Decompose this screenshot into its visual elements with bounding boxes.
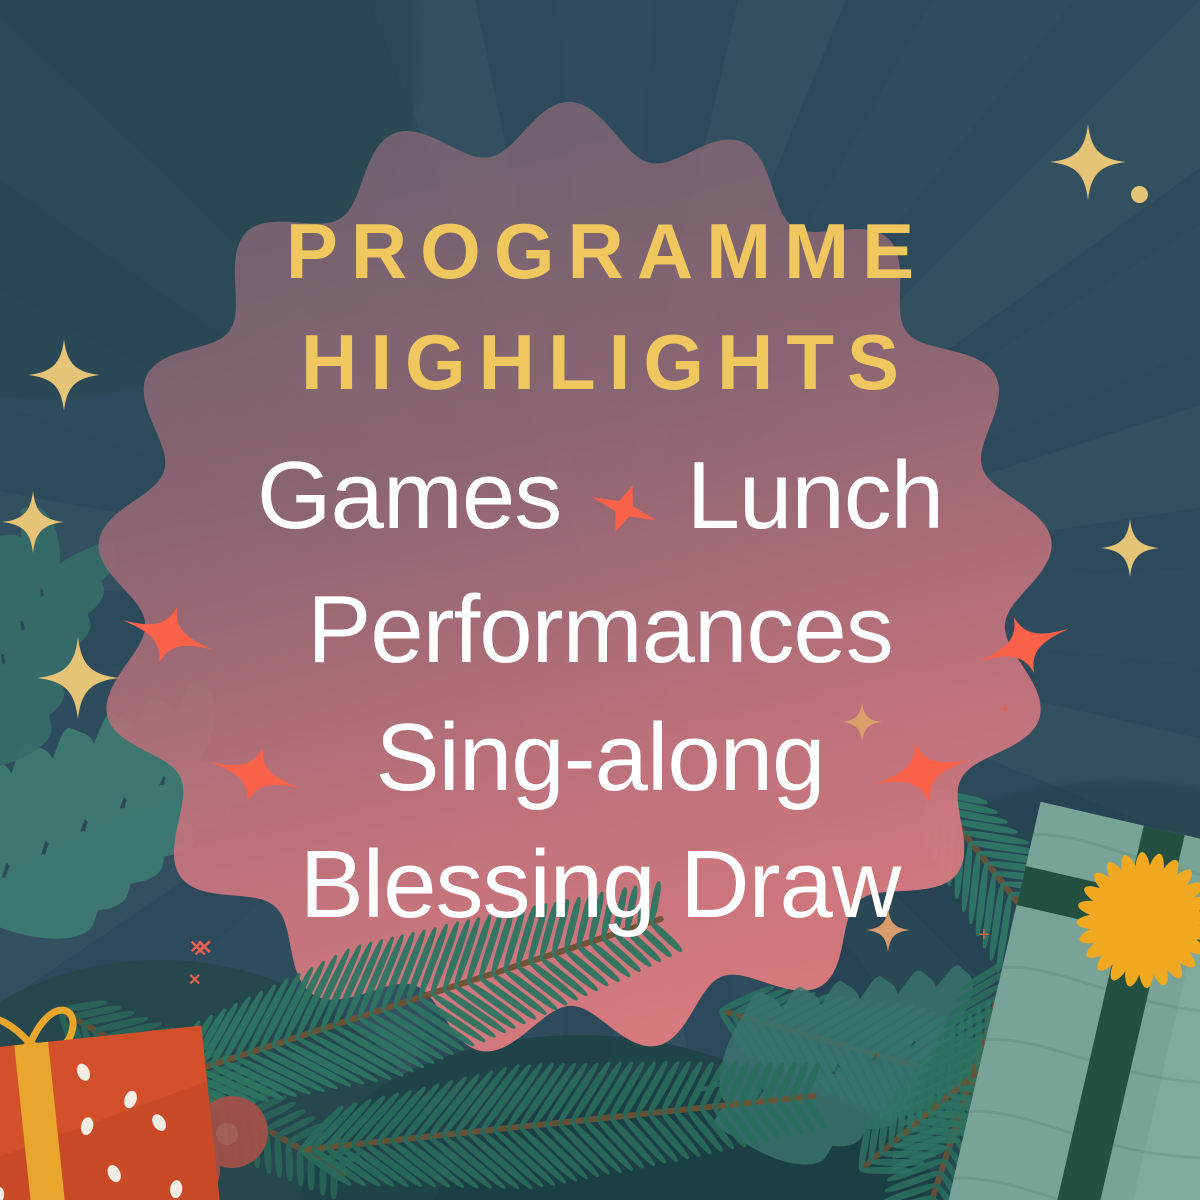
small-plus-mark-icon: +: [1000, 700, 1011, 718]
small-x-mark-icon: ✕: [193, 942, 207, 959]
gold-sparkle-small-icon: [866, 908, 910, 952]
gold-sparkle-icon: [37, 637, 119, 719]
coral-sparkle-icon: [196, 716, 315, 835]
gold-dot-icon: [1131, 186, 1148, 203]
coral-sparkle-icon: [962, 583, 1085, 706]
gold-sparkle-icon: [1101, 519, 1159, 577]
small-plus-mark-icon: +: [978, 925, 990, 945]
small-x-mark-icon: ✕: [188, 973, 201, 989]
gold-sparkle-icon: [2, 491, 64, 553]
coral-sparkle-icon: [108, 575, 229, 696]
gold-sparkle-icon: [28, 339, 100, 411]
poster-canvas: PROGRAMME HIGHLIGHTS Games Lunch Perform…: [0, 0, 1200, 1200]
sparkle-layer: ✕✕✕✕++: [0, 0, 1200, 1200]
gold-sparkle-icon: [1050, 124, 1126, 200]
